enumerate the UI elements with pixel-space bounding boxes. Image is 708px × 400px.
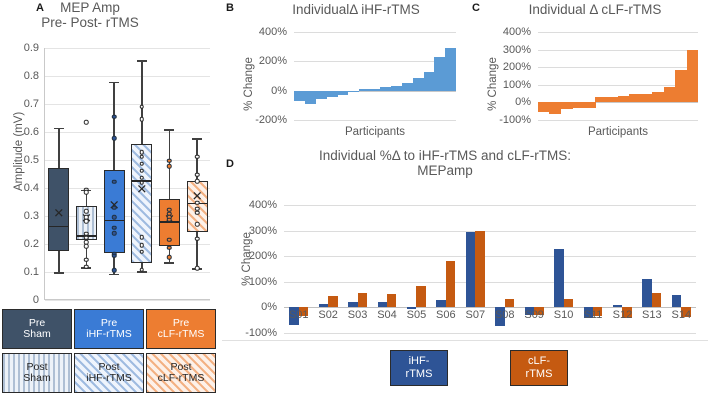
y-tick-label: -100%: [499, 114, 531, 126]
data-point: [195, 210, 200, 215]
boxplot-group: ✕: [128, 48, 156, 300]
y-tick-label: 400%: [259, 26, 287, 38]
panel-a-title-line1: MEP Amp: [0, 0, 180, 15]
bar-S03-ihf: [348, 302, 357, 308]
legend-label-line1: cLF-: [528, 355, 550, 368]
gridline: [538, 120, 698, 121]
bar-S02-ihf: [319, 304, 328, 307]
bar-S06-clf: [446, 261, 455, 308]
gridline: [284, 231, 696, 232]
boxplot-group: ✕: [73, 48, 101, 300]
data-point: [167, 246, 172, 251]
y-tick-label: -100%: [245, 327, 277, 339]
waterfall-bar: [629, 94, 641, 102]
bar-S03-clf: [358, 293, 367, 308]
bar-S13-clf: [652, 293, 661, 308]
panel-b-waterfall: B IndividualΔ iHF-rTMS % Change 400%200%…: [222, 0, 467, 148]
panel-a-title-line2: Pre- Post- rTMS: [0, 15, 180, 30]
y-tick-label: 0.6: [24, 126, 39, 138]
y-tick-label: 200%: [503, 61, 531, 73]
gridline: [284, 256, 696, 257]
waterfall-bar: [434, 57, 445, 91]
data-point: [140, 117, 145, 122]
waterfall-bar: [607, 97, 619, 103]
data-point: [140, 161, 145, 166]
data-point: [112, 205, 117, 210]
bar-S07-clf: [475, 231, 484, 307]
x-tick-label: S14: [671, 309, 691, 321]
data-point: [195, 179, 200, 184]
panel-c-x-axis-label: Participants: [538, 126, 698, 138]
y-tick-label: 0.8: [24, 70, 39, 82]
mean-marker: ✕: [53, 206, 64, 219]
median-line: [49, 226, 68, 228]
bar-S06-ihf: [436, 300, 445, 308]
waterfall-bar: [641, 94, 653, 102]
data-point: [112, 231, 117, 236]
gridline: [294, 32, 456, 33]
y-tick-label: -200%: [255, 114, 287, 126]
panel-d-grouped-bars: D Individual %Δ to iHF-rTMS and cLF-rTMS…: [222, 148, 708, 400]
legend-label-line2: Sham: [23, 373, 50, 385]
panel-c-y-ticks: 400%300%200%100%0%-100%: [482, 32, 534, 120]
legend-label-line2: cLF-rTMS: [158, 373, 205, 385]
whisker-cap-hi: [192, 138, 202, 140]
data-point: [112, 254, 117, 259]
y-tick-label: 0%: [515, 96, 531, 108]
legend-swatch-post-ihf-rtms[interactable]: PostiHF-rTMS: [74, 353, 144, 393]
waterfall-bar: [652, 92, 664, 102]
gridline: [294, 120, 456, 121]
waterfall-bar: [316, 91, 327, 99]
legend-swatch-pre-ihf-rtms[interactable]: PreiHF-rTMS: [74, 309, 144, 349]
x-tick-label: S05: [407, 309, 427, 321]
y-tick-label: 0.7: [24, 98, 39, 110]
data-point: [112, 136, 117, 141]
panel-b-label: B: [226, 2, 234, 14]
whisker-cap-lo: [109, 274, 119, 276]
data-point: [195, 154, 200, 159]
data-point: [167, 255, 172, 260]
gridline: [45, 300, 210, 301]
waterfall-bar: [424, 72, 435, 91]
waterfall-bar: [595, 97, 607, 102]
waterfall-bar: [337, 91, 348, 95]
y-tick-label: 0.5: [24, 154, 39, 166]
data-point: [112, 215, 117, 220]
bar-S04-ihf: [378, 302, 387, 307]
waterfall-bar: [370, 89, 381, 91]
legend-label-line2: iHF-rTMS: [86, 373, 132, 385]
data-point: [195, 236, 200, 241]
data-point: [112, 180, 117, 185]
data-point: [140, 175, 145, 180]
data-point: [84, 265, 89, 270]
panel-d-title-line1: Individual %Δ to iHF-rTMS and cLF-rTMS:: [222, 148, 668, 163]
waterfall-bar: [538, 102, 550, 111]
data-point: [167, 164, 172, 169]
waterfall-bar: [402, 83, 413, 90]
panel-b-plot-area: [294, 32, 456, 120]
x-tick-label: S02: [318, 309, 338, 321]
whisker-cap-lo: [54, 272, 64, 274]
data-point: [140, 168, 145, 173]
panel-d-legend: iHF-rTMScLF-rTMS: [222, 344, 708, 400]
x-tick-label: S13: [642, 309, 662, 321]
panel-d-y-ticks: 400%300%200%100%0%-100%: [230, 205, 280, 333]
panel-b-x-axis-label: Participants: [294, 126, 456, 138]
gridline: [538, 32, 698, 33]
waterfall-bar: [687, 50, 699, 102]
panel-d-divider: [222, 340, 708, 341]
data-point: [112, 226, 117, 231]
data-point: [140, 268, 145, 273]
panel-b-title: IndividualΔ iHF-rTMS: [246, 2, 466, 17]
x-tick-label: S12: [613, 309, 633, 321]
data-point: [140, 105, 145, 110]
panel-d-label: D: [226, 158, 234, 170]
y-tick-label: 100%: [503, 79, 531, 91]
data-point: [140, 154, 145, 159]
bar-S04-clf: [387, 294, 396, 307]
data-point: [112, 268, 117, 273]
panel-d-title-line2: MEPamp: [222, 163, 668, 178]
x-tick-label: S11: [584, 309, 603, 321]
legend-label-line2: rTMS: [526, 368, 553, 381]
y-tick-label: 0.2: [24, 238, 39, 250]
whisker-cap-hi: [109, 82, 119, 84]
boxplot-group: ✕: [156, 48, 184, 300]
bar-S08-clf: [505, 299, 514, 307]
x-tick-label: S03: [348, 309, 368, 321]
data-point: [140, 243, 145, 248]
panel-c-plot-area: [538, 32, 698, 120]
y-tick-label: 300%: [249, 225, 277, 237]
data-point: [140, 235, 145, 240]
data-point: [112, 114, 117, 119]
y-tick-label: 300%: [503, 44, 531, 56]
y-tick-label: 0%: [261, 301, 277, 313]
waterfall-bar: [561, 102, 573, 109]
data-point: [140, 250, 145, 255]
data-point: [84, 120, 89, 125]
bar-S07-ihf: [466, 232, 475, 308]
bar-S10-ihf: [554, 249, 563, 308]
x-tick-label: S06: [436, 309, 456, 321]
data-point: [195, 200, 200, 205]
legend-swatch-pre-sham[interactable]: PreSham: [2, 309, 72, 349]
panel-a-boxplot: A MEP Amp Pre- Post- rTMS Amplitude (mV)…: [0, 0, 220, 335]
panel-a-legend: PreShamPreiHF-rTMSPrecLF-rTMSPostShamPos…: [2, 309, 220, 397]
panel-a-title: MEP Amp Pre- Post- rTMS: [0, 0, 180, 30]
y-tick-label: 400%: [503, 26, 531, 38]
y-tick-label: 200%: [249, 250, 277, 262]
boxplot-group: ✕: [100, 48, 128, 300]
data-point: [195, 266, 200, 271]
panel-b-y-ticks: 400%200%0%-200%: [238, 32, 290, 120]
panel-d-title: Individual %Δ to iHF-rTMS and cLF-rTMS: …: [222, 148, 668, 178]
gridline: [538, 85, 698, 86]
x-tick-label: S01: [289, 309, 309, 321]
bar-S13-ihf: [642, 279, 651, 307]
waterfall-bar: [664, 87, 676, 102]
x-tick-label: S10: [554, 309, 574, 321]
y-tick-label: 0.4: [24, 182, 39, 194]
data-point: [84, 258, 89, 263]
panel-c-label: C: [472, 2, 480, 14]
whisker-cap-lo: [164, 262, 174, 264]
legend-swatch-post-clf-rtms[interactable]: PostcLF-rTMS: [146, 353, 216, 393]
gridline: [284, 333, 696, 334]
waterfall-bar: [359, 89, 370, 90]
gridline: [284, 282, 696, 283]
bar-S12-ihf: [613, 305, 622, 308]
y-tick-label: 100%: [249, 276, 277, 288]
x-tick-label: S04: [377, 309, 397, 321]
bar-S05-clf: [416, 286, 425, 308]
data-point: [167, 159, 172, 164]
data-point: [84, 244, 89, 249]
waterfall-bar: [391, 86, 402, 90]
data-point: [84, 219, 89, 224]
waterfall-bar: [445, 48, 456, 91]
gridline: [284, 205, 696, 206]
y-tick-label: 0.9: [24, 42, 39, 54]
boxplot-group: ✕: [45, 48, 73, 300]
legend-swatch-post-sham[interactable]: PostSham: [2, 353, 72, 393]
data-point: [140, 181, 145, 186]
panel-a-plot-area: ✕✕✕✕✕✕: [44, 48, 210, 300]
gridline: [538, 67, 698, 68]
panel-a-label: A: [36, 2, 44, 14]
whisker-cap-hi: [137, 60, 147, 62]
panel-d-plot-area: S01S02S03S04S05S06S07S08S09S10S11S12S13S…: [284, 205, 696, 333]
x-tick-label: S08: [495, 309, 515, 321]
data-point: [167, 238, 172, 243]
legend-swatch-pre-clf-rtms[interactable]: PrecLF-rTMS: [146, 309, 216, 349]
y-tick-label: 0.3: [24, 210, 39, 222]
panel-a-y-ticks: 0.90.80.70.60.50.40.30.20.10: [0, 48, 42, 300]
waterfall-bar: [305, 91, 316, 104]
legend-label-line1: iHF-: [409, 355, 430, 368]
waterfall-bar: [326, 91, 337, 97]
waterfall-bar: [618, 96, 630, 102]
y-tick-label: 0: [33, 294, 39, 306]
data-point: [84, 190, 89, 195]
waterfall-bar: [294, 91, 305, 101]
waterfall-bar: [675, 70, 687, 102]
y-tick-label: 0.1: [24, 266, 39, 278]
bar-S02-clf: [328, 296, 337, 308]
legend-label-line2: Sham: [23, 329, 50, 341]
bar-S14-ihf: [672, 295, 681, 307]
x-tick-label: S07: [465, 309, 485, 321]
waterfall-bar: [584, 102, 596, 107]
y-tick-label: 400%: [249, 199, 277, 211]
panel-c-waterfall: C Individual Δ cLF-rTMS % Change 400%300…: [468, 0, 708, 148]
data-point: [195, 173, 200, 178]
waterfall-bar: [413, 78, 424, 90]
legend-label-line2: rTMS: [406, 368, 433, 381]
whisker-cap-hi: [54, 128, 64, 130]
data-point: [167, 217, 172, 222]
bar-S10-clf: [564, 299, 573, 307]
data-point: [84, 209, 89, 214]
panel-d-legend-swatch-clf-rtms[interactable]: cLF-rTMS: [510, 350, 568, 386]
gridline: [294, 61, 456, 62]
gridline: [538, 50, 698, 51]
panel-c-title: Individual Δ cLF-rTMS: [486, 2, 704, 17]
median-line: [105, 220, 124, 222]
panel-d-legend-swatch-ihf-rtms[interactable]: iHF-rTMS: [390, 350, 448, 386]
waterfall-bar: [348, 91, 359, 92]
y-tick-label: 0%: [271, 85, 287, 97]
legend-label-line2: cLF-rTMS: [158, 329, 205, 341]
whisker-cap-hi: [164, 129, 174, 131]
legend-label-line2: iHF-rTMS: [86, 329, 132, 341]
data-point: [195, 222, 200, 227]
y-tick-label: 200%: [259, 55, 287, 67]
x-tick-label: S09: [524, 309, 544, 321]
boxplot-group: ✕: [183, 48, 211, 300]
waterfall-bar: [549, 102, 561, 113]
waterfall-bar: [572, 102, 584, 108]
zero-line: [284, 307, 696, 308]
waterfall-bar: [380, 87, 391, 90]
